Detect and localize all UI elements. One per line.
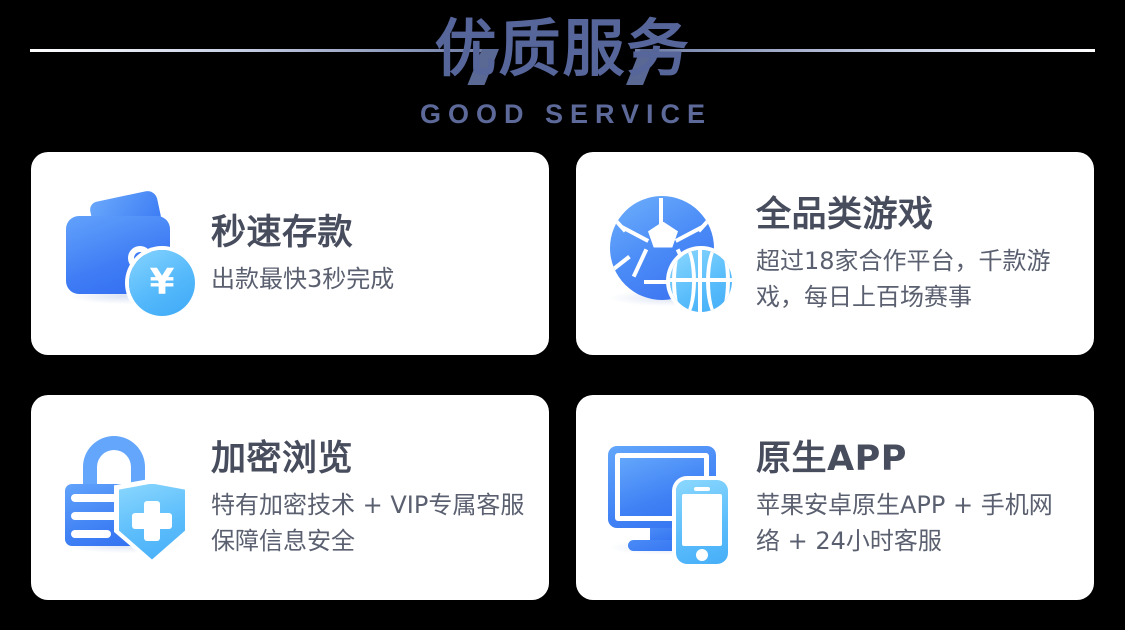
card-description: 超过18家合作平台，千款游戏，每日上百场赛事 xyxy=(756,243,1076,315)
card-text-block: 原生APP 苹果安卓原生APP + 手机网络 + 24小时客服 xyxy=(742,437,1076,559)
basketball-icon xyxy=(670,250,732,312)
shield-cross xyxy=(132,513,172,529)
phone-screen xyxy=(682,494,722,546)
soccer-seam xyxy=(697,213,714,232)
lock-slot xyxy=(71,494,121,502)
card-text-block: 全品类游戏 超过18家合作平台，千款游戏，每日上百场赛事 xyxy=(742,193,1076,315)
feature-card-deposit[interactable]: ¥ 秒速存款 出款最快3秒完成 xyxy=(31,152,549,355)
card-text-block: 秒速存款 出款最快3秒完成 xyxy=(197,211,531,297)
card-title: 加密浏览 xyxy=(211,437,531,481)
yen-coin-icon: ¥ xyxy=(129,250,195,316)
basketball-arc xyxy=(706,250,730,312)
card-title: 全品类游戏 xyxy=(756,193,1076,237)
soccer-seam xyxy=(610,255,631,273)
feature-card-encryption[interactable]: 加密浏览 特有加密技术 + VIP专属客服保障信息安全 xyxy=(31,395,549,600)
card-description: 出款最快3秒完成 xyxy=(211,261,531,297)
page-header: 优质服务 GOOD SERVICE xyxy=(0,0,1125,140)
phone-icon xyxy=(676,480,728,564)
feature-cards-grid: ¥ 秒速存款 出款最快3秒完成 xyxy=(31,152,1094,600)
wallet-yen-icon: ¥ xyxy=(57,184,197,324)
soccer-center-patch xyxy=(648,222,678,248)
lock-slot xyxy=(71,530,111,538)
feature-card-native-app[interactable]: 原生APP 苹果安卓原生APP + 手机网络 + 24小时客服 xyxy=(576,395,1094,600)
card-title: 秒速存款 xyxy=(211,211,531,255)
soccer-seam xyxy=(610,213,627,232)
feature-card-games[interactable]: 全品类游戏 超过18家合作平台，千款游戏，每日上百场赛事 xyxy=(576,152,1094,355)
page-subtitle: GOOD SERVICE xyxy=(0,98,1125,130)
card-title: 原生APP xyxy=(756,437,1076,481)
lock-shield-icon xyxy=(57,428,197,568)
soccer-basketball-icon xyxy=(602,184,742,324)
page-title: 优质服务 xyxy=(0,8,1125,90)
basketball-arc xyxy=(672,250,696,312)
soccer-seam xyxy=(659,198,663,224)
card-text-block: 加密浏览 特有加密技术 + VIP专属客服保障信息安全 xyxy=(197,437,531,559)
card-description: 苹果安卓原生APP + 手机网络 + 24小时客服 xyxy=(756,487,1076,559)
phone-home-button xyxy=(696,549,708,561)
soccer-seam xyxy=(632,248,648,277)
yen-symbol: ¥ xyxy=(149,265,174,301)
card-description: 特有加密技术 + VIP专属客服保障信息安全 xyxy=(211,487,531,559)
phone-speaker xyxy=(694,487,710,491)
monitor-phone-icon xyxy=(602,428,742,568)
